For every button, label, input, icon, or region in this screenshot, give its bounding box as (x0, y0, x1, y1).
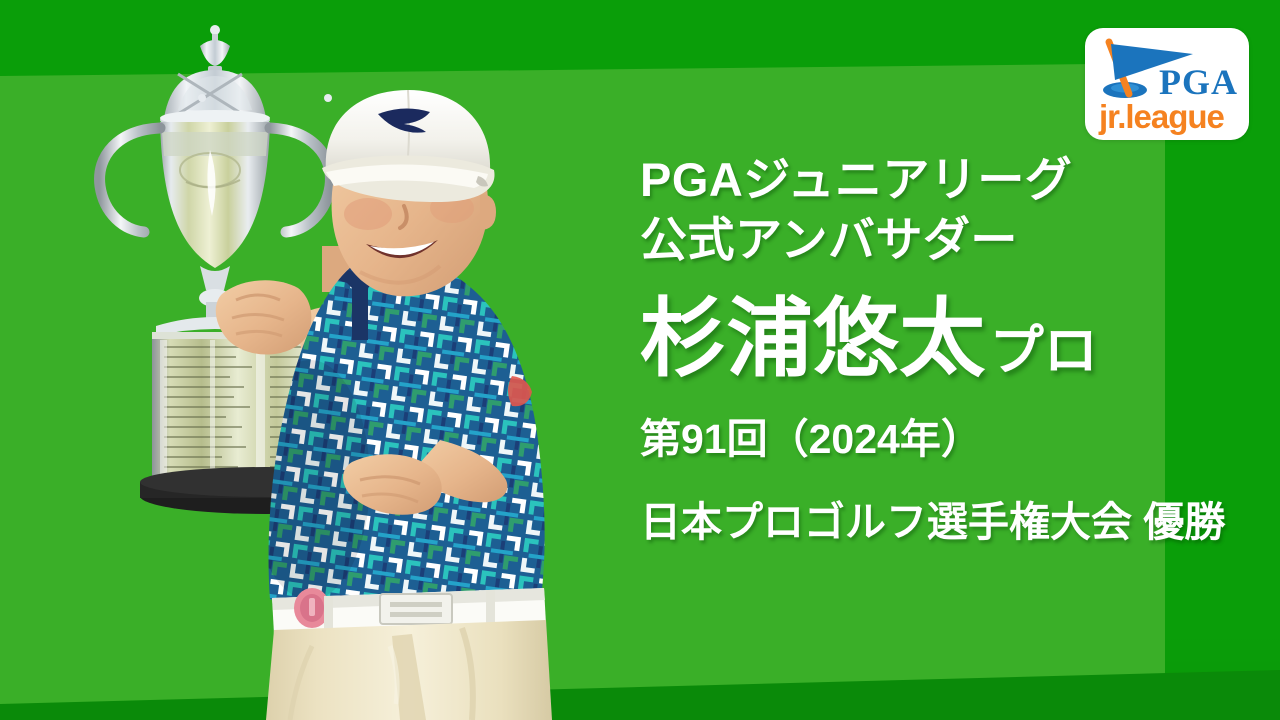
banner-root: PGAジュニアリーグ 公式アンバサダー 杉浦悠太 プロ 第91回（2024年） … (0, 0, 1280, 720)
svg-text:PGA: PGA (1159, 62, 1238, 102)
pga-jr-league-logo[interactable]: PGA jr.league (1085, 28, 1249, 140)
ambassador-name-row: 杉浦悠太 プロ (640, 296, 1180, 384)
title-line-1: 第91回（2024年） (640, 412, 1180, 467)
pga-wordmark: PGA (1159, 62, 1238, 102)
copy-block: PGAジュニアリーグ 公式アンバサダー 杉浦悠太 プロ 第91回（2024年） … (640, 150, 1180, 549)
svg-text:jr.league: jr.league (1098, 98, 1225, 135)
jr-league-wordmark: jr.league (1098, 98, 1225, 135)
title-line-2: 日本プロゴルフ選手権大会 優勝 (640, 495, 1180, 550)
role-line-2: 公式アンバサダー (640, 210, 1180, 270)
ambassador-name: 杉浦悠太 (640, 296, 986, 384)
role-line-1: PGAジュニアリーグ (640, 150, 1180, 210)
golfer-photo (60, 10, 660, 720)
ambassador-name-suffix: プロ (986, 324, 1098, 384)
